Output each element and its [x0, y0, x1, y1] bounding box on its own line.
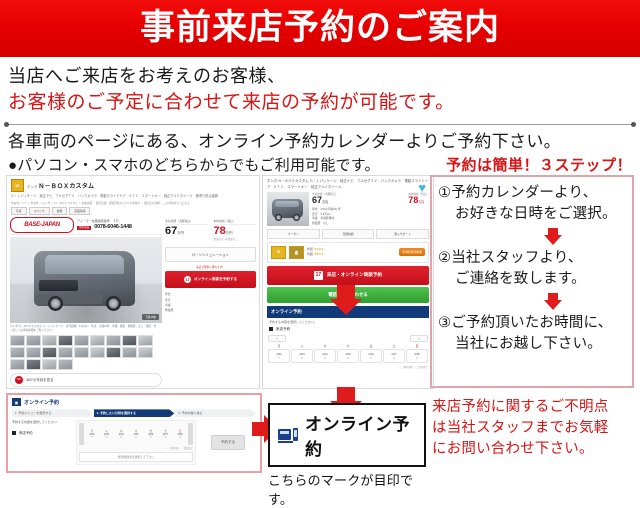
thumbnail-item[interactable]	[138, 335, 153, 346]
sp-cal-dow: 金	[360, 344, 382, 348]
sp-cal-cell[interactable]: 4/23 ○	[291, 349, 313, 363]
id-badge-icon: ID	[271, 246, 286, 259]
dealer-tel-block[interactable]: ディーラー在庫検索番号 ＩＤ： 無料電話 0078-6046-1448	[77, 219, 132, 232]
online-reserve-mark-button[interactable]: オンライン予約	[268, 403, 426, 467]
contact-note-line-1: 来店予約に関するご不明点	[432, 397, 634, 418]
pc-tab-spec[interactable]: スペック	[29, 207, 50, 215]
pc-online-reserve-button[interactable]: 17 オンライン商談を予約する	[165, 271, 256, 288]
arrow-stem	[252, 422, 264, 436]
pc-price-note: 保証付き／修復歴なし	[214, 237, 257, 241]
sp-cal-mark: −	[269, 356, 289, 360]
form-cal-col: 月 4/22 −	[85, 429, 99, 440]
intro-line-1: 当店へご来店をお考えのお客様、	[8, 63, 632, 89]
pc-listing-screenshot: ID ホンダ Ｎ－ＢＯＸカスタム Ｇ・Ｌパッケージ 純正ナビ フルセグＴＶ バッ…	[6, 175, 260, 389]
thumbnail-item[interactable]	[90, 347, 105, 358]
step-3-number: ③	[438, 315, 451, 331]
pc-price-total-value: 67万円	[165, 225, 208, 237]
step-1-number: ①	[438, 185, 451, 201]
sp-price-area: 支払総額（消費税込） 67万円 本体価格（税込） 78万円 年式 2012(平成…	[312, 192, 429, 226]
sp-cal-cell[interactable]: 4/28 ○	[406, 349, 428, 363]
sp-calendar-col: 日 4/28 ○	[406, 344, 428, 363]
monitor-icon: ▣	[12, 398, 21, 406]
arrow-stem	[337, 285, 355, 299]
thumbnail-item[interactable]	[58, 347, 73, 358]
sp-visit-online-reserve-label: 来店・オンライン商談予約	[327, 272, 382, 278]
online-reserve-mark-block: オンライン予約 こちらのマークが目印です。	[268, 403, 426, 508]
thumbnail-item[interactable]	[10, 335, 25, 346]
sp-rating-box: ID 鑑 外装 ★★★★☆ 内装 ★★★★☆ 車両状態評価書	[267, 242, 429, 263]
sp-coupon-button[interactable]: クーポン	[267, 229, 320, 239]
thumbnail-item[interactable]	[106, 335, 121, 346]
intro-line-4-row: ●パソコン・スマホのどちらからでもご利用可能です。 予約は簡単！３ステップ！	[0, 153, 640, 175]
sp-cal-dow: 月	[268, 344, 290, 348]
form-side-note: 予約する内容を選択してください	[12, 420, 72, 425]
car-wheel-rear	[106, 296, 121, 311]
online-reserve-mark-label: オンライン予約	[305, 410, 416, 460]
sp-condition-report-link[interactable]: 車両状態評価書	[399, 248, 425, 256]
sp-visit-radio-option[interactable]: 来店予約	[263, 326, 433, 333]
step-item-1: ①予約カレンダーより、 お好きな日時をご選択。	[438, 183, 628, 225]
form-step-3[interactable]: 3. 予約内容に進む	[175, 409, 256, 417]
sp-cal-mark: ○	[361, 356, 381, 360]
sp-quote-button[interactable]: 見積依頼	[322, 229, 375, 239]
sp-car-thumbnail[interactable]	[267, 192, 309, 226]
pc-side-row-repair: 修復歴	[165, 308, 256, 313]
page-title: 事前来店予約のご案内	[140, 10, 500, 48]
thumbnail-item[interactable]	[42, 359, 57, 370]
form-cal-col: 木 4/25 ○	[129, 429, 143, 440]
sp-cal-cell[interactable]: 4/22 −	[268, 349, 290, 363]
step-2-line2: ご連絡を致します。	[438, 269, 628, 290]
car-bumper-shape	[36, 294, 103, 304]
radio-selected-icon	[269, 327, 273, 331]
thumbnail-item[interactable]	[74, 335, 89, 346]
form-step-2[interactable]: 2. 予約したい日時を選択する	[94, 409, 175, 417]
thumbnail-item[interactable]	[26, 359, 41, 370]
loan-simulation-button[interactable]: ローンシミュレーション	[165, 247, 256, 262]
sp-calendar-col: 火 4/23 ○	[291, 344, 313, 363]
sp-cal-mark: ○	[292, 356, 312, 360]
sp-cal-cell[interactable]: 4/24 ○	[314, 349, 336, 363]
pc-spec-text: Ｇ・Ｌパッケージ 純正ナビ フルセグＴＶ バックカメラ 電動スライドドア ＥＴＣ…	[7, 193, 259, 200]
sp-detail-rows: 年式 2012(平成24) 年 走行 4.8万km 車検 車検整備付 修復歴 な…	[312, 207, 429, 226]
pc-right-column: 支払総額（消費税込） 67万円 本体価格（税込） 78万円 保証付き／修復歴なし…	[165, 217, 256, 387]
thumbnail-item[interactable]	[26, 347, 41, 358]
form-visit-radio[interactable]: 来店予約	[12, 430, 72, 436]
form-cal-col: 土 4/27 ○	[159, 429, 173, 440]
contact-note-block: 来店予約に関するご不明点 は当社スタッフまでお気軽 にお問い合わせ下さい。	[432, 397, 634, 459]
thumbnail-item[interactable]	[10, 359, 25, 370]
form-cal-mark[interactable]: ○	[173, 436, 187, 440]
car-wheel-front	[48, 296, 63, 311]
step-3-line1: ご予約頂いたお時間に、	[451, 315, 612, 331]
dealer-phone-number[interactable]: 0078-6046-1448	[94, 224, 132, 230]
form-cal-mark[interactable]: ○	[159, 436, 173, 440]
sp-calendar-col: 木 4/25 ○	[337, 344, 359, 363]
form-cal-mark[interactable]: ○	[144, 436, 158, 440]
form-calendar[interactable]: 月 4/22 − 火 4/23 ○ 水 4/24 ○	[76, 420, 196, 465]
sp-cal-cell[interactable]: 4/26 ○	[360, 349, 382, 363]
form-cal-col: 日 4/28 ○	[173, 429, 187, 440]
pc-price-row: 支払総額（消費税込） 67万円 本体価格（税込） 78万円 保証付き／修復歴なし	[165, 219, 256, 241]
sp-calendar-col: 土 4/27 ○	[383, 344, 405, 363]
step-item-3: ③ご予約頂いたお時間に、 当社にお越し下さい。	[438, 313, 628, 355]
pc-online-reserve-label: オンライン商談を予約する	[194, 277, 237, 282]
pc-tab-bar[interactable]: 写真 スペック 装備 店舗情報	[7, 206, 259, 217]
monitor-smartphone-icon	[278, 427, 298, 443]
sp-cal-dow: 日	[406, 344, 428, 348]
divider-rule	[4, 124, 636, 125]
intro-section: 当店へご来店をお考えのお客様、 お客様のご予定に合わせて来店の予約が可能です。	[0, 57, 640, 118]
sp-cal-cell[interactable]: 4/25 ○	[337, 349, 359, 363]
calendar-prev-icon[interactable]: ‹	[268, 335, 286, 342]
inspection-badge-icon: 鑑	[289, 246, 304, 259]
thumbnail-item[interactable]	[42, 347, 57, 358]
form-cal-col: 水 4/24 ○	[114, 429, 128, 440]
dealer-logo: BASE-JAPAN	[10, 217, 74, 233]
car-wheel-rear	[293, 214, 300, 221]
sp-cal-cell[interactable]: 4/27 ○	[383, 349, 405, 363]
steps-banner-text: 予約は簡単！３ステップ！	[446, 154, 636, 175]
pc-side-info-rows: 年式 走行 車検 修復歴	[165, 292, 256, 313]
sp-detail-row: 修復歴 なし	[312, 221, 429, 226]
pc-booking-form-screenshot: ▣ オンライン予約 1. 予約メニューを選択する 2. 予約したい日時を選択する…	[6, 393, 262, 473]
thumbnail-item[interactable]	[122, 347, 137, 358]
view-360-label: 360°の写真を見る	[26, 377, 53, 382]
calendar-prev-icon[interactable]	[79, 423, 84, 445]
arrow-stem	[548, 293, 558, 300]
sp-interior-label: 内装	[307, 252, 313, 256]
thumbnail-item[interactable]	[26, 335, 41, 346]
sp-cal-dow: 土	[383, 344, 405, 348]
step-2-number: ②	[438, 250, 451, 266]
sp-detail-screenshot: ♥ ホンダ Ｎ－ＢＯＸカスタム Ｇ・Ｌパッケージ 純正ナビ フルセグＴＶ バック…	[262, 175, 434, 389]
sp-spec-text: ホンダ Ｎ－ＢＯＸカスタム Ｇ・Ｌパッケージ 純正ナビ フルセグＴＶ バックカメ…	[263, 176, 433, 192]
pc-dealer-row: BASE-JAPAN ディーラー在庫検索番号 ＩＤ： 無料電話 0078-604…	[10, 217, 162, 235]
intro-line-2: お客様のご予定に合わせて来店の予約が可能です。	[8, 89, 632, 118]
thumbnail-item[interactable]	[58, 335, 73, 346]
car-wheel-front	[275, 214, 282, 221]
thumbnail-item[interactable]	[74, 347, 89, 358]
form-cal-mark[interactable]: −	[85, 436, 99, 440]
intro-line-3: 各車両のページにある、オンライン予約カレンダーよりご予約下さい。	[0, 128, 640, 154]
form-cal-mark[interactable]: ○	[129, 436, 143, 440]
radio-selected-icon	[12, 431, 16, 435]
form-header: ▣ オンライン予約	[8, 395, 260, 409]
pc-tab-photos[interactable]: 写真	[11, 207, 27, 215]
step-1-line2: お好きな日時をご選択。	[438, 204, 628, 225]
sp-visit-online-reserve-button[interactable]: 17 来店・オンライン商談予約	[267, 266, 429, 285]
form-header-label: オンライン予約	[24, 399, 59, 406]
online-reserve-mark-caption: こちらのマークが目印です。	[268, 470, 426, 508]
form-body: 予約する内容を選択してください 来店予約 月 4/22 − 火 4/	[8, 417, 260, 468]
body-area: ID ホンダ Ｎ－ＢＯＸカスタム Ｇ・Ｌパッケージ 純正ナビ フルセグＴＶ バッ…	[0, 175, 640, 477]
form-cal-col: 金 4/26 ○	[144, 429, 158, 440]
car-main-photo[interactable]: 写真45枚	[10, 237, 162, 323]
thumbnail-item[interactable]	[90, 335, 105, 346]
arrow-head	[544, 235, 562, 245]
thumbnail-item[interactable]	[42, 335, 57, 346]
pc-button-note: 来店で現車に乗れます！	[165, 265, 256, 269]
form-calendar-legend: ○：予約可能 −：受付終了	[79, 446, 193, 450]
contact-note-line-3: にお問い合わせ下さい。	[432, 439, 634, 460]
sp-online-reserve-subtitle: 予約する内容を選択してください。	[263, 318, 433, 326]
form-calendar-row[interactable]: 月 4/22 − 火 4/23 ○ 水 4/24 ○	[79, 423, 193, 445]
calendar-next-icon[interactable]	[188, 423, 193, 445]
sp-calendar[interactable]: ‹ › 月 4/22 − 火 4/23 ○	[268, 335, 428, 369]
form-submit-button[interactable]: 予約する	[211, 435, 245, 450]
form-cal-mark[interactable]: ○	[100, 436, 114, 440]
sp-cal-mark: ○	[315, 356, 335, 360]
sp-small-button-row[interactable]: クーポン 見積依頼 購入サポート	[263, 226, 433, 239]
step-arrow-2	[438, 293, 628, 310]
photo-count-badge: 写真45枚	[142, 314, 159, 320]
sp-price-total: 支払総額（消費税込） 67万円	[312, 192, 338, 205]
form-visit-radio-label: 来店予約	[19, 430, 33, 436]
sp-cal-mark: ○	[407, 356, 427, 360]
pc-photo-caption: ホンダ Ｎ－ＢＯＸカスタム Ｇ・Ｌパッケージ 走行距離：4.8万km 年式：平成…	[10, 323, 162, 335]
sp-calendar-col: 水 4/24 ○	[314, 344, 336, 363]
pc-thumbnail-strip[interactable]	[10, 335, 162, 370]
favorite-heart-icon[interactable]: ♥	[418, 181, 426, 194]
pc-price-body-value: 78万円	[214, 225, 257, 237]
step-2-line1: 当社スタッフより、	[451, 250, 582, 266]
car-window-shape	[275, 201, 299, 207]
step-3-line2: 当社にお越し下さい。	[438, 334, 628, 355]
sp-cal-dow: 水	[314, 344, 336, 348]
pc-tab-store[interactable]: 店舗情報	[69, 207, 90, 215]
intro-line-4: ●パソコン・スマホのどちらからでもご利用可能です。	[8, 154, 446, 175]
step-arrow-1	[438, 228, 628, 245]
sp-cal-dow: 火	[291, 344, 313, 348]
sp-cal-mark: ○	[384, 356, 404, 360]
flow-arrow-to-calendar	[330, 285, 362, 315]
form-cal-col: 火 4/23 ○	[100, 429, 114, 440]
sp-rating-lines: 外装 ★★★★☆ 内装 ★★★★☆	[307, 247, 396, 257]
sp-calendar-col: 月 4/22 −	[268, 344, 290, 363]
steps-panel: ①予約カレンダーより、 お好きな日時をご選択。 ②当社スタッフより、 ご連絡を致…	[430, 175, 634, 388]
pc-tab-equipment[interactable]: 装備	[52, 207, 68, 215]
pc-price-total: 支払総額（消費税込） 67万円	[165, 219, 208, 241]
arrow-head	[330, 299, 362, 315]
arrow-stem	[548, 228, 558, 235]
view-360-button[interactable]: 360 360°の写真を見る	[10, 373, 162, 387]
arrow-head	[544, 300, 562, 310]
sp-calendar-grid[interactable]: 月 4/22 − 火 4/23 ○ 水 4/24	[268, 344, 428, 363]
sp-price-body-value: 78万円	[408, 196, 429, 205]
sp-calendar-legend: ○：予約可能 −：受付終了	[268, 365, 428, 369]
pc-main-columns: BASE-JAPAN ディーラー在庫検索番号 ＩＤ： 無料電話 0078-604…	[7, 217, 259, 387]
calendar-icon: 17	[184, 276, 191, 283]
form-right-column: 予約する	[200, 420, 256, 465]
rotate-icon: 360	[15, 376, 23, 384]
sp-cal-dow: 木	[337, 344, 359, 348]
form-left-column: 予約する内容を選択してください 来店予約	[12, 420, 72, 465]
calendar-next-icon[interactable]: ›	[410, 335, 428, 342]
id-badge-icon: ID	[11, 179, 24, 192]
pc-title-bar: ID ホンダ Ｎ－ＢＯＸカスタム	[7, 176, 259, 193]
car-window-shape	[45, 255, 124, 274]
pc-maker-label: ホンダ	[27, 185, 38, 189]
arrow-stem	[337, 387, 355, 401]
thumbnail-item[interactable]	[138, 347, 153, 358]
sp-exterior-stars: ★★★★☆	[314, 247, 326, 251]
thumbnail-item[interactable]	[106, 347, 121, 358]
thumbnail-item[interactable]	[122, 335, 137, 346]
form-step-1[interactable]: 1. 予約メニューを選択する	[12, 409, 93, 417]
sp-price-row: 支払総額（消費税込） 67万円 本体価格（税込） 78万円	[312, 192, 429, 205]
sp-calendar-col: 金 4/26 ○	[360, 344, 382, 363]
pc-left-column: BASE-JAPAN ディーラー在庫検索番号 ＩＤ： 無料電話 0078-604…	[10, 217, 162, 387]
thumbnail-item[interactable]	[58, 359, 73, 370]
car-grille-shape	[39, 280, 79, 291]
sp-cal-mark: ○	[338, 356, 358, 360]
pc-model-label: Ｎ－ＢＯＸカスタム	[38, 184, 94, 190]
pc-price-body: 本体価格（税込） 78万円 保証付き／修復歴なし	[214, 219, 257, 241]
sp-visit-radio-label: 来店予約	[276, 327, 290, 332]
form-time-hint: 希望時間帯を選択して下さい	[79, 452, 193, 462]
sp-support-button[interactable]: 購入サポート	[376, 229, 429, 239]
form-step-breadcrumb: 1. 予約メニューを選択する 2. 予約したい日時を選択する 3. 予約内容に進…	[8, 409, 260, 417]
step-1-line1: 予約カレンダーより、	[451, 185, 597, 201]
page-header-banner: 事前来店予約のご案内	[0, 0, 640, 57]
sp-interior-stars: ★★★★☆	[314, 252, 326, 256]
contact-note-line-2: は当社スタッフまでお気軽	[432, 418, 634, 439]
calendar-icon: 17	[314, 271, 323, 280]
free-call-chip: 無料電話	[77, 226, 91, 230]
sp-summary-row: 支払総額（消費税込） 67万円 本体価格（税込） 78万円 年式 2012(平成…	[263, 192, 433, 226]
form-cal-mark[interactable]: ○	[114, 436, 128, 440]
sp-calendar-nav[interactable]: ‹ ›	[268, 335, 428, 342]
sp-price-total-value: 67万円	[312, 196, 338, 205]
sp-exterior-label: 外装	[307, 247, 313, 251]
thumbnail-item[interactable]	[10, 347, 25, 358]
step-item-2: ②当社スタッフより、 ご連絡を致します。	[438, 248, 628, 290]
